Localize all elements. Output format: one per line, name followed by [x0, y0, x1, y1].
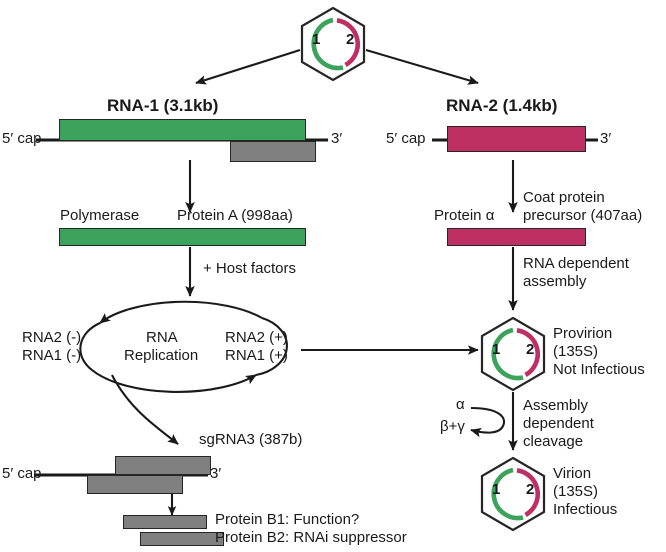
provirion-caption-line1: Provirion [553, 326, 612, 343]
protein-a-left-label: Polymerase [60, 208, 139, 225]
cleavage-label-line1: Assembly [523, 398, 588, 415]
virion-segment-1-label: 1 [492, 482, 500, 499]
cleavage-label-line2: dependent [523, 416, 594, 433]
arrow-alpha-to-beta-gamma [471, 408, 504, 433]
replication-center-label-line2: Replication [124, 348, 198, 365]
replication-arc-minus [100, 302, 262, 323]
replication-arc-plus [92, 370, 256, 392]
replication-minus-strand-rna1: RNA1 (-) [22, 348, 81, 365]
particle-segment-2-label: 2 [346, 32, 354, 49]
protein-a-right-label: Protein A (998aa) [177, 208, 293, 225]
replication-loop-left-side [80, 323, 100, 370]
particle-segment-1-label: 1 [312, 32, 320, 49]
protein-alpha-left-label: Protein α [434, 208, 494, 225]
cleavage-label-line3: cleavage [523, 434, 583, 451]
provirion-caption-line2: (135S) [553, 344, 598, 361]
arrow-to-rna1 [196, 50, 300, 83]
rna2-orf-bar [447, 126, 586, 152]
rna2-five-prime-label: 5′ cap [386, 131, 426, 148]
virion-caption-line3: Infectious [553, 502, 617, 519]
provirion-segment-2-label: 2 [526, 342, 534, 359]
host-factors-label: + Host factors [203, 261, 296, 278]
protein-b2-label: Protein B2: RNAi suppressor [215, 530, 407, 547]
rna1-three-prime-label: 3′ [331, 131, 342, 148]
protein-alpha-bar [447, 228, 586, 246]
rna2-title: RNA-2 (1.4kb) [446, 96, 557, 115]
sgrna3-five-prime-label: 5′ cap [2, 466, 42, 483]
assembly-label-line1: RNA dependent [523, 256, 629, 273]
protein-a-bar [59, 228, 306, 246]
replication-minus-strand-rna2: RNA2 (-) [22, 330, 81, 347]
arrow-to-rna2 [366, 50, 478, 83]
cleavage-alpha-label: α [456, 397, 465, 414]
protein-b1-label: Protein B1: Function? [215, 512, 359, 529]
replication-plus-strand-rna2: RNA2 (+) [225, 330, 288, 347]
provirion-segment-1-label: 1 [492, 342, 500, 359]
sgrna3-orf-b2-bar [87, 475, 183, 494]
replication-center-label-line1: RNA [146, 330, 178, 347]
cleavage-products-label: β+γ [440, 419, 465, 436]
protein-alpha-right-label-line2: precursor (407aa) [523, 208, 642, 225]
virion-caption-line2: (135S) [553, 484, 598, 501]
protein-b1-bar [123, 515, 207, 529]
sgrna3-orf-b1-bar [115, 456, 211, 475]
rna1-five-prime-label: 5′ cap [2, 131, 42, 148]
rna1-orf-bar [59, 119, 306, 141]
protein-alpha-right-label-line1: Coat protein [523, 190, 605, 207]
rna1-subgenomic-region-bar [230, 141, 316, 162]
sgrna3-three-prime-label: 3′ [210, 466, 221, 483]
replication-plus-strand-rna1: RNA1 (+) [225, 348, 288, 365]
rna2-three-prime-label: 3′ [600, 131, 611, 148]
assembly-label-line2: assembly [523, 274, 586, 291]
virion-segment-2-label: 2 [526, 482, 534, 499]
virion-caption-line1: Virion [553, 466, 591, 483]
virus-replication-diagram: 1 2 RNA-1 (3.1kb) 5′ cap 3′ RNA-2 (1.4kb… [0, 0, 666, 552]
sgrna3-label: sgRNA3 (387b) [199, 432, 302, 449]
protein-b2-bar [140, 532, 224, 546]
rna1-title: RNA-1 (3.1kb) [107, 96, 218, 115]
provirion-caption-line3: Not Infectious [553, 362, 645, 379]
